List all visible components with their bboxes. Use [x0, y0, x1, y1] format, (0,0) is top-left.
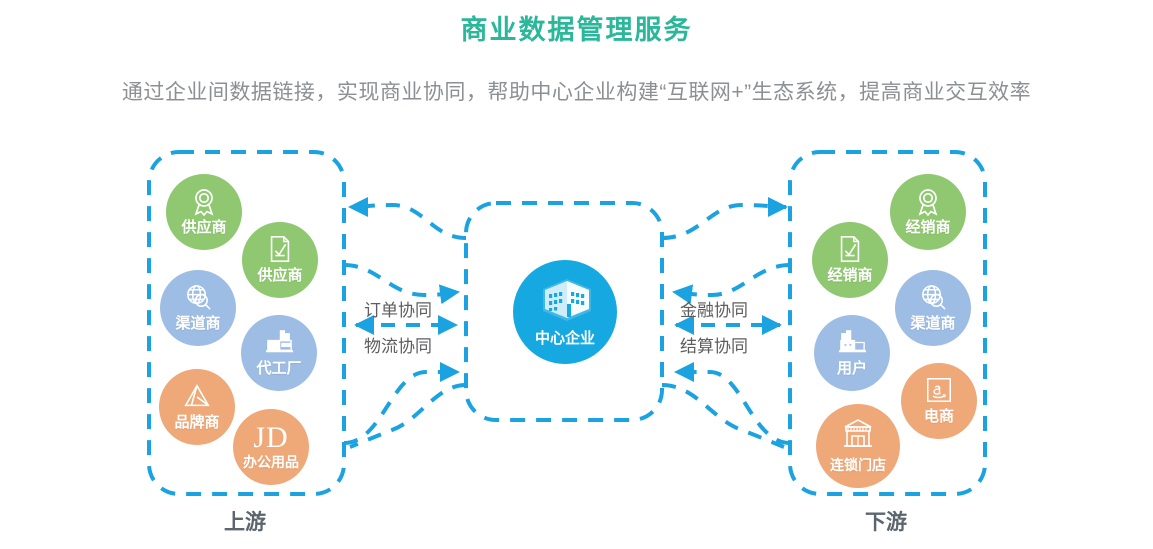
connector-right-bottom-b: [662, 385, 784, 447]
connector-left-bottom-c: [350, 385, 466, 447]
node-label: 供应商: [257, 264, 302, 298]
node-label: 品牌商: [174, 411, 219, 445]
connector-right-bottom-a: [676, 372, 790, 443]
jd-logo-text: JD: [253, 421, 288, 455]
node-label: 供应商: [181, 216, 226, 250]
node-upstream-supplier-doc[interactable]: 供应商: [242, 222, 318, 298]
node-label: 电商: [924, 405, 954, 439]
office-building-icon: [513, 277, 617, 325]
globe-search-icon: [895, 282, 971, 313]
node-label: 代工厂: [256, 357, 301, 391]
medal-icon: [890, 186, 966, 218]
document-contract-icon: [812, 234, 888, 264]
node-upstream-oem-factory[interactable]: 代工厂: [241, 315, 317, 391]
node-label: 经销商: [827, 264, 872, 298]
node-label: 渠道商: [910, 312, 955, 346]
node-label: 用户: [837, 357, 867, 391]
jd-logo-icon: JD: [233, 421, 309, 455]
connector-right-top: [662, 205, 786, 238]
storefront-icon: [816, 417, 900, 449]
diagram-canvas: 商业数据管理服务 通过企业间数据链接，实现商业协同，帮助中心企业构建“互联网+”…: [0, 0, 1153, 549]
amazon-logo-icon: [901, 375, 977, 405]
connector-left-bottom-b: [344, 372, 458, 443]
node-upstream-office-supplies[interactable]: JD 办公用品: [233, 409, 309, 485]
factory-icon: [241, 327, 317, 358]
factory-icon: [814, 327, 890, 358]
connector-right-mid-back: [674, 265, 790, 295]
globe-search-icon: [160, 282, 236, 313]
node-upstream-brand[interactable]: 品牌商: [159, 369, 235, 445]
node-downstream-chain-store[interactable]: 连锁门店: [816, 404, 900, 488]
node-downstream-channel[interactable]: 渠道商: [895, 270, 971, 346]
node-label: 办公用品: [243, 452, 299, 485]
document-contract-icon: [242, 234, 318, 264]
node-label: 连锁门店: [830, 455, 886, 488]
node-downstream-dealer-medal[interactable]: 经销商: [890, 174, 966, 250]
node-upstream-channel[interactable]: 渠道商: [160, 270, 236, 346]
node-center-enterprise[interactable]: 中心企业: [513, 260, 617, 364]
connector-left-bottom-a: [344, 265, 458, 295]
node-label: 中心企业: [535, 327, 595, 364]
node-downstream-user[interactable]: 用户: [814, 315, 890, 391]
connector-label-order-collab: 订单协同: [364, 296, 432, 321]
connector-left-top: [350, 205, 466, 238]
node-label: 经销商: [905, 216, 950, 250]
medal-icon: [166, 186, 242, 218]
connector-label-finance-collab: 金融协同: [680, 296, 748, 321]
node-upstream-supplier-medal[interactable]: 供应商: [166, 174, 242, 250]
triangle-brand-icon: [159, 381, 235, 411]
node-downstream-ecommerce[interactable]: 电商: [901, 363, 977, 439]
connector-label-logistics-collab: 物流协同: [364, 332, 432, 357]
upstream-caption: 上游: [224, 506, 266, 536]
connector-label-settlement-collab: 结算协同: [680, 332, 748, 357]
node-label: 渠道商: [175, 312, 220, 346]
node-downstream-dealer-doc[interactable]: 经销商: [812, 222, 888, 298]
downstream-caption: 下游: [865, 506, 907, 536]
